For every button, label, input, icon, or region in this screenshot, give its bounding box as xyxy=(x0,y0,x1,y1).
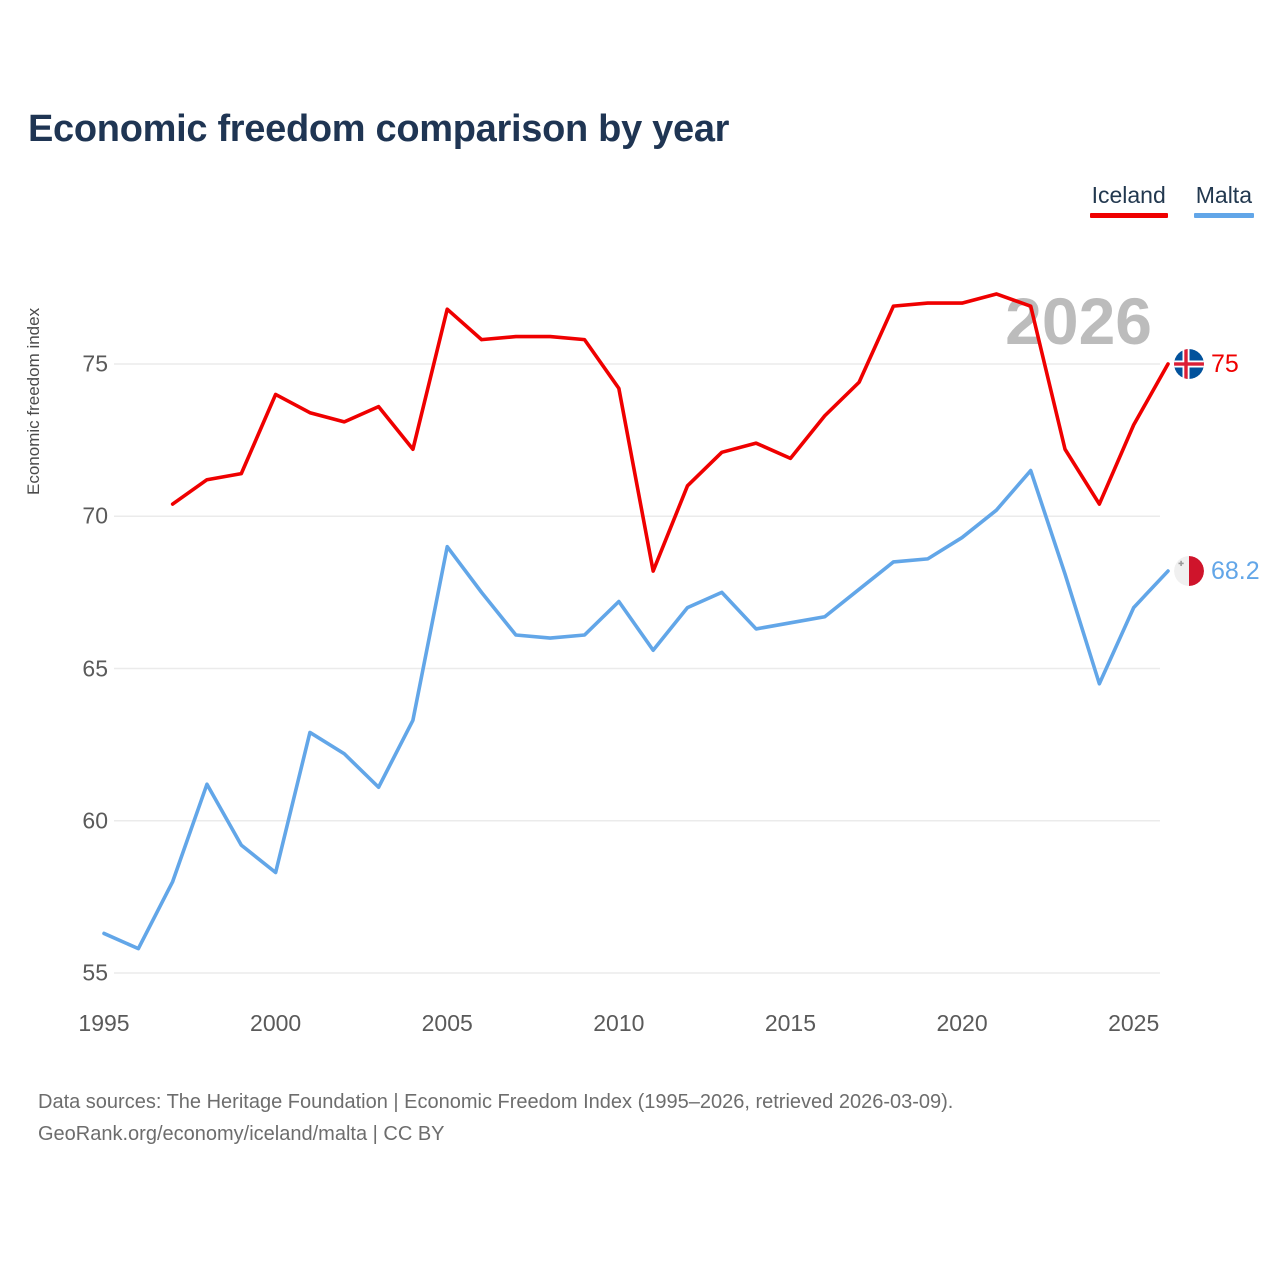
x-tick-label: 2005 xyxy=(422,1010,473,1037)
footer-line-2: GeoRank.org/economy/iceland/malta | CC B… xyxy=(38,1118,953,1150)
series-line-malta xyxy=(104,471,1168,949)
x-tick-label: 2020 xyxy=(936,1010,987,1037)
y-tick-label: 70 xyxy=(48,503,108,530)
x-tick-label: 2025 xyxy=(1108,1010,1159,1037)
chart-page: Economic freedom comparison by year Icel… xyxy=(0,0,1280,1280)
x-tick-label: 2000 xyxy=(250,1010,301,1037)
y-tick-label: 65 xyxy=(48,655,108,682)
x-tick-label: 2010 xyxy=(593,1010,644,1037)
y-axis-title: Economic freedom index xyxy=(24,308,44,495)
footer-attribution: Data sources: The Heritage Foundation | … xyxy=(38,1086,953,1151)
y-tick-label: 75 xyxy=(48,351,108,378)
x-tick-label: 1995 xyxy=(78,1010,129,1037)
end-value-malta: 68.2 xyxy=(1211,557,1260,586)
x-tick-label: 2015 xyxy=(765,1010,816,1037)
iceland-flag-icon xyxy=(1174,349,1204,379)
footer-line-1: Data sources: The Heritage Foundation | … xyxy=(38,1086,953,1118)
y-tick-label: 55 xyxy=(48,960,108,987)
malta-flag-icon xyxy=(1174,556,1204,586)
end-value-iceland: 75 xyxy=(1211,350,1239,379)
end-label-iceland: 75 xyxy=(1174,349,1239,379)
end-label-malta: 68.2 xyxy=(1174,556,1260,586)
series-line-iceland xyxy=(173,294,1168,571)
y-tick-label: 60 xyxy=(48,807,108,834)
